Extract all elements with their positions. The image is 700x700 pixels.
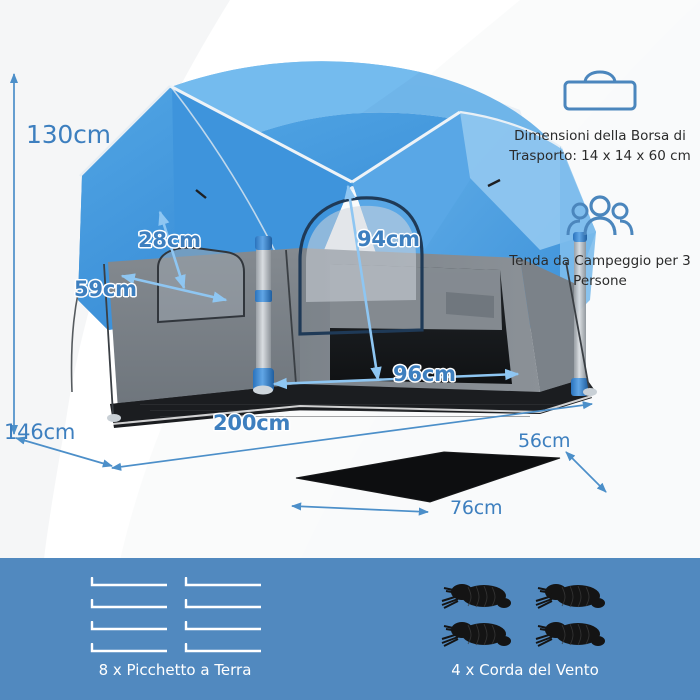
carry-bag-info-block: Dimensioni della Borsa di Trasporto: 14 … [500,70,700,167]
people-group-icon [500,193,700,241]
product-dimension-infographic: 130cm 146cm 28cm 59cm 94cm 96cm 200cm 56… [0,0,700,700]
stakes-label: 8 x Picchetto a Terra [99,661,252,679]
carry-bag-icon [500,70,700,116]
dimension-label-height: 130cm [26,120,111,149]
dimension-label-width: 200cm [213,411,290,435]
tent-illustration-panel: 130cm 146cm 28cm 59cm 94cm 96cm 200cm 56… [0,0,700,560]
dimension-label-inner-width-front: 59cm [74,277,137,301]
dimension-label-depth: 146cm [4,420,75,444]
capacity-info-text: Tenda da Campeggio per 3 Persone [500,251,700,292]
dimension-label-mat-depth: 56cm [518,430,570,452]
wind-ropes-icon [440,579,610,651]
capacity-info-block: Tenda da Campeggio per 3 Persone [500,193,700,292]
ropes-label: 4 x Corda del Vento [451,661,599,679]
carry-bag-info-text: Dimensioni della Borsa di Trasporto: 14 … [500,126,700,167]
accessory-stakes-panel: 8 x Picchetto a Terra [0,558,350,700]
dimension-label-interior-height: 94cm [357,227,420,251]
accessory-ropes-panel: 4 x Corda del Vento [350,558,700,700]
dimension-label-interior-width: 96cm [393,362,456,386]
dimension-label-inner-height-front: 28cm [138,228,201,252]
accessories-band: 8 x Picchetto a Terra 4 x Corda del Vent… [0,558,700,700]
feature-info-column: Dimensioni della Borsa di Trasporto: 14 … [500,70,700,317]
dimension-label-mat-width: 76cm [450,497,502,519]
ground-stakes-icon [89,579,261,651]
